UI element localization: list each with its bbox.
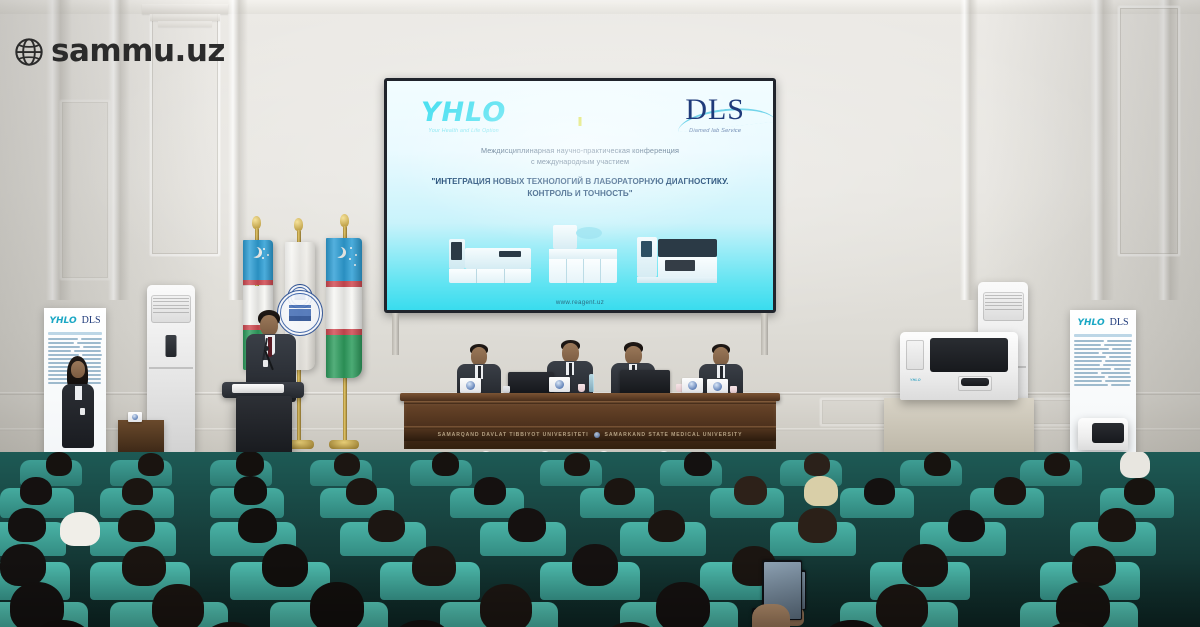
table-seal-icon [594,432,600,438]
attendee-standing-left [58,356,98,456]
audience-headscarf [60,512,100,546]
audience-head [648,510,685,542]
slide-url: www.reagent.uz [387,299,773,306]
audience-head [924,452,951,476]
analyzer-brand-label: YHLO [910,378,921,382]
university-seal-icon [688,381,697,390]
table-top-surface [400,393,780,401]
auxiliary-device [1078,418,1128,450]
audience-head [122,546,166,586]
audience-head [1044,453,1070,476]
audience-head [118,510,155,542]
yhlo-logo: YHLO Your Health and Life Option [421,99,506,134]
lab-analyzer: YHLO [900,332,1018,400]
uzbekistan-flag-right [326,238,362,378]
banner-left-yhlo-logo: YHLO [49,317,76,326]
audience-head [334,453,360,476]
nameplate-4 [707,379,728,394]
member-tie [569,363,572,376]
slide-divider-mark [579,117,582,126]
slide-device-left [449,239,531,283]
audience-head [864,478,895,505]
slide-title-line2: КОНТРОЛЬ И ТОЧНОСТЬ" [401,188,759,200]
slide-surface: YHLO Your Health and Life Option DLS Dia… [387,81,773,310]
slide-device-images [387,223,773,293]
slide-subtitle-line2: с международным участием [387,156,773,167]
audience-head [8,508,46,542]
audience-head [798,508,837,543]
banner-right-dls-logo: DLS [1110,318,1129,328]
projection-screen: YHLO Your Health and Life Option DLS Dia… [384,78,776,313]
audience-head [138,453,164,476]
auxiliary-device-screen [1092,423,1124,443]
audience-head [656,582,710,627]
audience-head [994,477,1026,505]
audience-head [262,544,308,587]
microphone-head-icon [264,346,269,351]
ac-seam [149,367,193,369]
slide-subtitle-line1: Междисциплинарная научно-практическая ко… [387,145,773,156]
audience-head [432,452,459,476]
audience-area [0,452,1200,627]
screen-leg [761,313,768,355]
side-table [118,420,164,454]
slide-title: "ИНТЕГРАЦИЯ НОВЫХ ТЕХНОЛОГИЙ В ЛАБОРАТОР… [401,176,759,200]
dls-logo: DLS Diamed lab Service [685,95,745,134]
audience-head [152,584,204,627]
ac-vent [983,292,1024,321]
audience-head [0,544,46,586]
audience-head [20,477,52,505]
table-inscription: SAMARQAND DAVLAT TIBBIYOT UNIVERSITETI S… [404,429,776,441]
audience-head [684,452,712,476]
audience-head [46,452,72,476]
nameplate-1 [460,378,481,393]
audience-head [236,452,264,476]
audience-head [876,584,928,627]
member-tie [720,366,723,379]
screen-bezel: YHLO Your Health and Life Option DLS Dia… [384,78,776,313]
attendee-shirt [75,386,82,400]
audience-head [368,510,405,542]
presidium-table: SAMARQAND DAVLAT TIBBIYOT UNIVERSITETI S… [404,393,776,455]
slide-device-center [549,225,617,283]
ac-vent [151,295,190,323]
audience-head [564,453,590,476]
side-table-item [128,412,142,422]
audience-head [474,477,506,505]
analyzer-side-panel [906,340,924,370]
conference-hall-photo: YHLO DLS YHLO DLS [0,0,1200,627]
attendee-head [71,361,85,378]
slide-logo-row: YHLO Your Health and Life Option DLS Dia… [387,95,773,141]
audience-head [412,546,456,586]
speaker-head [260,315,278,336]
banner-right-table [1074,334,1132,388]
water-bottle [589,374,594,392]
audience-head [480,584,532,627]
audience-head [238,508,277,543]
drinking-cup [578,384,585,392]
audience-head [604,478,635,505]
audience-head [234,476,267,505]
equipment-table [884,398,1034,454]
dls-wordmark: DLS [685,95,745,125]
flag-base [329,440,359,449]
audience-head [1072,546,1116,586]
university-seal-icon [555,380,564,389]
audience-hand [752,604,790,627]
presidium-laptop [508,372,554,394]
speaker-badge [263,360,268,367]
seat-row-5 [0,582,1200,627]
globe-icon [14,37,44,67]
analyzer-screen [961,378,989,386]
banner-left-logos: YHLO DLS [44,316,106,326]
watermark-text: sammu.uz [51,36,225,67]
audience-head [508,508,546,542]
table-moulding [404,401,776,404]
audience-head [902,544,948,587]
banner-right-logos: YHLO DLS [1070,318,1136,328]
slide-subtitle: Междисциплинарная научно-практическая ко… [387,145,773,168]
audience-head [734,476,767,505]
slide-device-right [637,237,717,283]
university-seal-icon [713,382,722,391]
presidium-laptop [620,370,670,394]
audience-head [346,478,377,505]
audience-head [804,453,830,476]
ac-display [166,335,177,357]
audience-head [310,582,364,627]
banner-right-yhlo-logo: YHLO [1077,319,1104,328]
slide-title-line1: "ИНТЕГРАЦИЯ НОВЫХ ТЕХНОЛОГИЙ В ЛАБОРАТОР… [401,176,759,188]
member-head [562,343,579,363]
table-inscription-uz: SAMARQAND DAVLAT TIBBIYOT UNIVERSITETI [438,432,589,438]
banner-left-dls-logo: DLS [82,316,101,326]
audience-head [572,544,618,586]
nameplate-2 [549,377,570,392]
podium [236,396,292,458]
audience-head [1098,508,1136,542]
audience-headscarf [804,476,838,506]
university-seal-icon [466,381,475,390]
nameplate-3 [682,378,703,393]
podium-documents [232,384,284,393]
yhlo-tagline: Your Health and Life Option [421,128,506,134]
audience-head [122,478,153,505]
screen-leg [392,313,399,355]
analyzer-hood [930,338,1008,372]
table-inscription-en: SAMARKAND STATE MEDICAL UNIVERSITY [605,432,743,438]
site-watermark: sammu.uz [14,36,225,67]
table-front-panel [404,401,776,449]
audience-head [1124,478,1155,505]
audience-head [948,510,985,542]
audience-head [1056,582,1110,627]
yhlo-wordmark: YHLO [421,99,506,126]
attendee-badge [80,408,85,415]
